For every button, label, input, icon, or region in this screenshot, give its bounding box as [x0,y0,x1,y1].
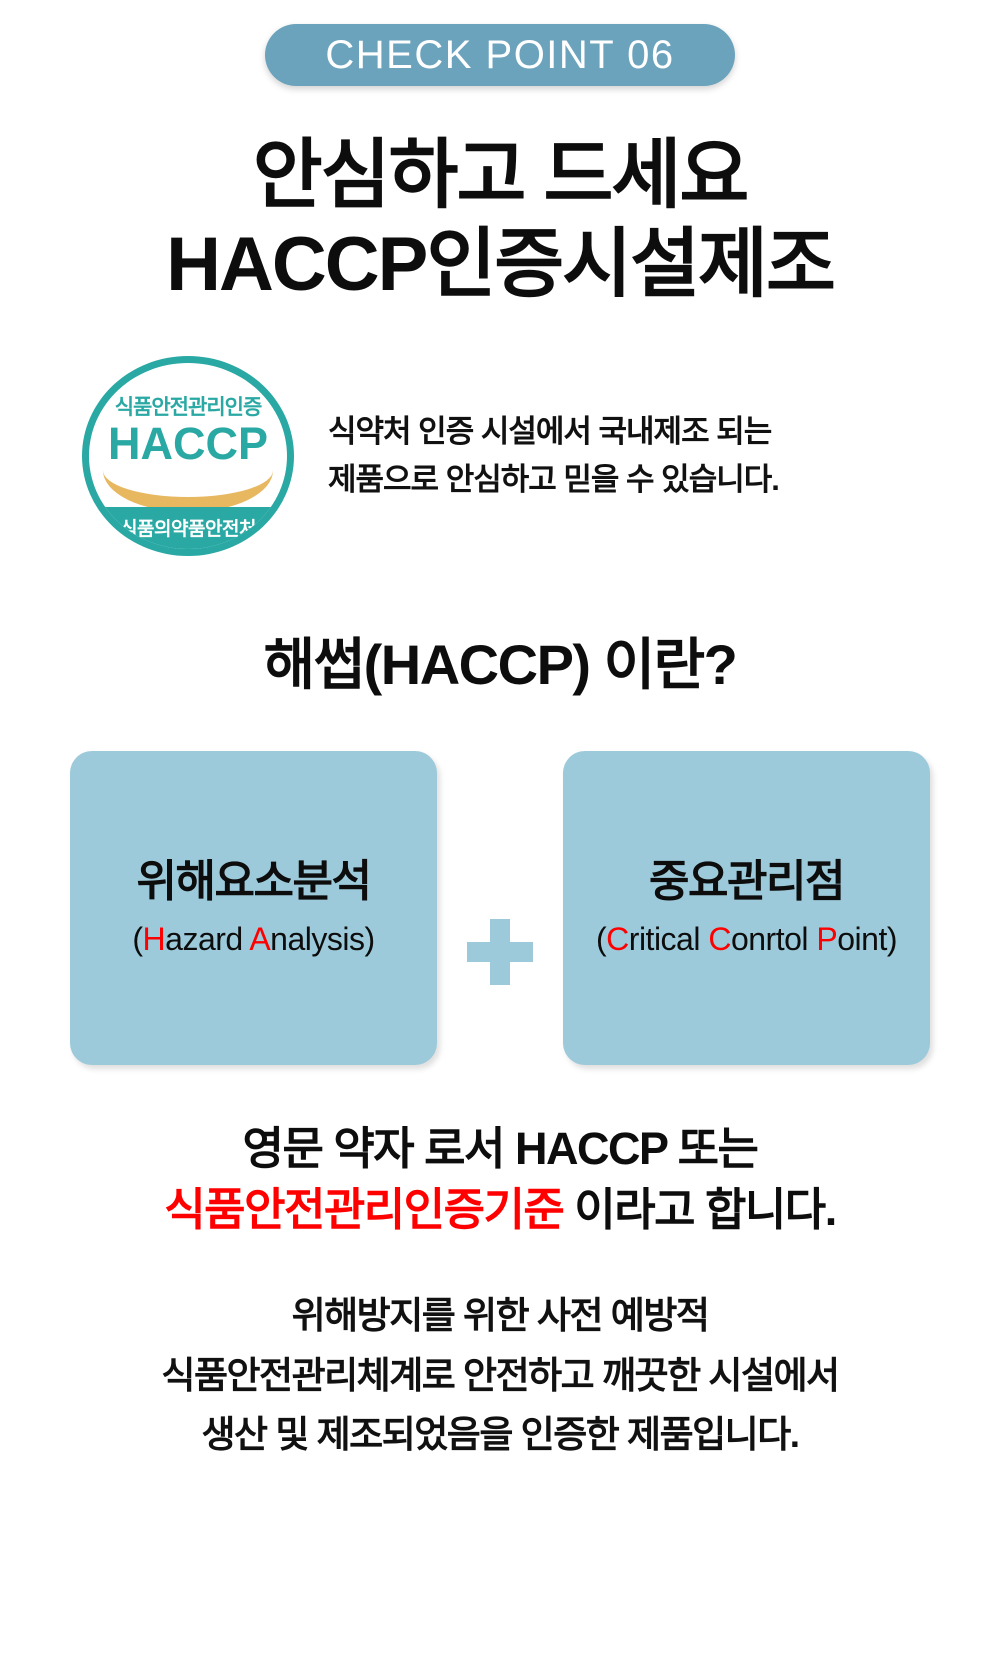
section-heading: 해썹(HACCP) 이란? [264,620,737,701]
summary-line-1: 영문 약자 로서 HACCP 또는 [164,1119,835,1180]
summary-line-2-rest: 이라고 합니다. [563,1184,835,1235]
certification-description: 식약처 인증 시설에서 국내제조 되는 제품으로 안심하고 믿을 수 있습니다. [328,408,779,504]
definition-box-hazard-analysis: 위해요소분석 (Hazard Analysis) [70,751,437,1065]
footnote-line-2: 식품안전관리체계로 안전하고 깨끗한 시설에서 [161,1346,838,1405]
summary-text: 영문 약자 로서 HACCP 또는 식품안전관리인증기준 이라고 합니다. [164,1119,835,1241]
definition-korean-label: 위해요소분석 [137,858,371,906]
summary-highlight: 식품안전관리인증기준 [164,1184,563,1235]
seal-swoosh-icon [103,466,273,512]
page-title-line-1: 안심하고 드세요 [166,132,834,221]
certification-description-line-1: 식약처 인증 시설에서 국내제조 되는 [328,408,779,456]
definition-box-critical-control-point: 중요관리점 (Critical Conrtol Point) [563,751,930,1065]
seal-top-text: 식품안전관리인증 [89,391,287,421]
checkpoint-badge: CHECK POINT 06 [265,24,735,86]
seal-acronym: HACCP [89,418,287,470]
seal-circle: 식품안전관리인증 HACCP 식품의약품안전처 [82,356,294,556]
page-title: 안심하고 드세요 HACCP인증시설제조 [166,132,834,310]
seal-bottom-text: 식품의약품안전처 [120,514,256,541]
haccp-seal-icon: 식품안전관리인증 HACCP 식품의약품안전처 [82,356,294,556]
footnote-line-1: 위해방지를 위한 사전 예방적 [161,1286,838,1345]
definition-english-label: (Hazard Analysis) [132,921,374,958]
page-title-line-2: HACCP인증시설제조 [166,221,834,310]
haccp-detail-page: CHECK POINT 06 안심하고 드세요 HACCP인증시설제조 식품안전… [0,0,1000,1657]
certification-description-line-2: 제품으로 안심하고 믿을 수 있습니다. [328,456,779,504]
definition-english-label: (Critical Conrtol Point) [596,921,897,958]
definition-row: 위해요소분석 (Hazard Analysis) 중요관리점 (Critical… [0,751,1000,1065]
definition-korean-label: 중요관리점 [649,858,844,906]
summary-line-2: 식품안전관리인증기준 이라고 합니다. [164,1180,835,1241]
certification-row: 식품안전관리인증 HACCP 식품의약품안전처 식약처 인증 시설에서 국내제조… [0,356,1000,556]
footnote-line-3: 생산 및 제조되었음을 인증한 제품입니다. [161,1405,838,1464]
footnote-text: 위해방지를 위한 사전 예방적 식품안전관리체계로 안전하고 깨끗한 시설에서 … [161,1286,838,1464]
seal-bottom-band: 식품의약품안전처 [89,507,287,549]
plus-icon [467,751,533,1065]
